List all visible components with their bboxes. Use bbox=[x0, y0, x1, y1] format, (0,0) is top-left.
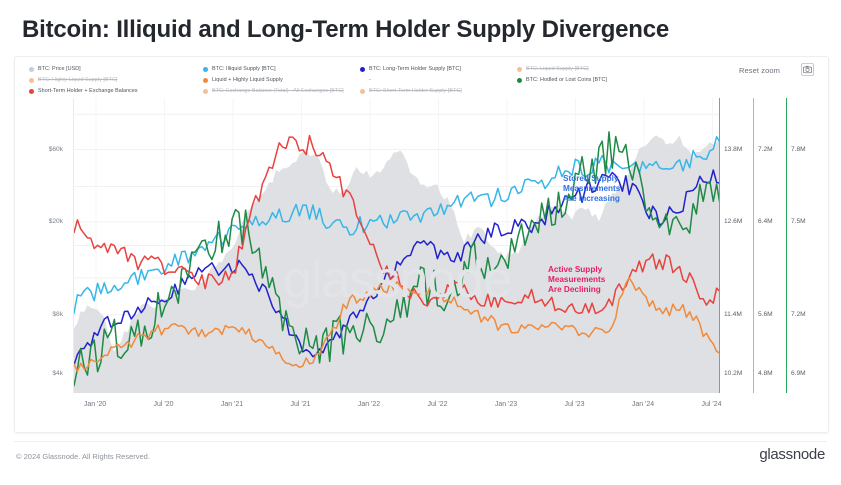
y-tick-left: $60k bbox=[23, 146, 63, 153]
legend-label: BTC: Illiquid Supply [BTC] bbox=[212, 67, 276, 72]
legend-item[interactable]: BTC: Long-Term Holder Supply [BTC] bbox=[360, 67, 461, 72]
legend-color-dot bbox=[29, 89, 34, 94]
legend-color-dot bbox=[203, 78, 208, 83]
x-tick-label: Jul '22 bbox=[413, 401, 463, 408]
legend-item[interactable]: BTC: Illiquid Supply [BTC] bbox=[203, 67, 276, 72]
legend-item[interactable]: BTC: Hodled or Lost Coins [BTC] bbox=[517, 78, 607, 83]
x-tick-label: Jan '21 bbox=[207, 401, 257, 408]
legend-item[interactable]: BTC: Exchange Balance (Total) - All Exch… bbox=[203, 89, 344, 94]
page-title: Bitcoin: Illiquid and Long-Term Holder S… bbox=[22, 16, 669, 44]
camera-icon[interactable] bbox=[801, 63, 814, 76]
copyright-text: © 2024 Glassnode. All Rights Reserved. bbox=[16, 452, 150, 461]
legend-color-dot bbox=[29, 78, 34, 83]
legend-color-dot bbox=[360, 89, 365, 94]
x-tick-label: Jul '24 bbox=[687, 401, 737, 408]
x-tick-label: Jul '20 bbox=[139, 401, 189, 408]
y-tick-left: $8k bbox=[23, 311, 63, 318]
legend-color-dot bbox=[29, 67, 34, 72]
y-tick-right: 7.2M bbox=[791, 311, 806, 318]
y-tick-right: 11.4M bbox=[724, 311, 742, 318]
reset-zoom-button[interactable]: Reset zoom bbox=[739, 66, 780, 75]
legend-label: BTC: Short-Term Holder Supply [BTC] bbox=[369, 89, 462, 94]
legend-color-dot bbox=[360, 67, 365, 72]
legend-label: BTC: Long-Term Holder Supply [BTC] bbox=[369, 67, 461, 72]
y-tick-right: 7.2M bbox=[758, 146, 773, 153]
series-layer bbox=[74, 132, 720, 393]
legend-label: BTC: Hodled or Lost Coins [BTC] bbox=[526, 78, 607, 83]
legend-color-dot bbox=[203, 67, 208, 72]
y-tick-right: 12.6M bbox=[724, 218, 742, 225]
y-tick-right: 6.4M bbox=[758, 218, 773, 225]
legend-label: BTC: Price [USD] bbox=[38, 67, 81, 72]
chart-annotation: Active SupplyMeasurementsAre Declining bbox=[548, 265, 605, 295]
legend-label: Liquid + Highly Liquid Supply bbox=[212, 78, 283, 83]
legend-item[interactable]: - bbox=[360, 78, 371, 83]
plot-area[interactable]: glassnode bbox=[73, 98, 720, 393]
legend-label: BTC: Liquid Supply [BTC] bbox=[526, 67, 589, 72]
y-tick-right: 13.8M bbox=[724, 146, 742, 153]
chart-annotation: Stored SupplyMeasurementsAre Increasing bbox=[563, 174, 620, 204]
legend-color-dot bbox=[517, 78, 522, 83]
legend-item[interactable]: BTC: Highly Liquid Supply [BTC] bbox=[29, 78, 117, 83]
legend-color-dot bbox=[517, 67, 522, 72]
legend-label: Short-Term Holder + Exchange Balances bbox=[38, 89, 138, 94]
x-tick-label: Jul '21 bbox=[276, 401, 326, 408]
legend-item[interactable]: BTC: Liquid Supply [BTC] bbox=[517, 67, 589, 72]
x-tick-label: Jul '23 bbox=[550, 401, 600, 408]
plot-svg bbox=[74, 98, 720, 393]
legend-color-dot bbox=[360, 78, 365, 83]
legend-color-dot bbox=[203, 89, 208, 94]
y-tick-right: 6.9M bbox=[791, 370, 806, 377]
legend-label: - bbox=[369, 78, 371, 83]
x-tick-label: Jan '23 bbox=[481, 401, 531, 408]
x-tick-label: Jan '24 bbox=[618, 401, 668, 408]
right-axis-rule bbox=[719, 98, 720, 393]
chart-page: Bitcoin: Illiquid and Long-Term Holder S… bbox=[0, 0, 841, 485]
chart-legend: BTC: Price [USD]BTC: Highly Liquid Suppl… bbox=[23, 63, 743, 101]
x-tick-label: Jan '22 bbox=[344, 401, 394, 408]
y-tick-right: 10.2M bbox=[724, 370, 742, 377]
legend-item[interactable]: BTC: Price [USD] bbox=[29, 67, 81, 72]
footer-divider bbox=[14, 441, 827, 442]
x-tick-label: Jan '20 bbox=[70, 401, 120, 408]
y-tick-left: $20k bbox=[23, 218, 63, 225]
legend-label: BTC: Exchange Balance (Total) - All Exch… bbox=[212, 89, 344, 94]
chart-card: BTC: Price [USD]BTC: Highly Liquid Suppl… bbox=[14, 56, 829, 433]
legend-label: BTC: Highly Liquid Supply [BTC] bbox=[38, 78, 117, 83]
legend-item[interactable]: Short-Term Holder + Exchange Balances bbox=[29, 89, 138, 94]
legend-item[interactable]: Liquid + Highly Liquid Supply bbox=[203, 78, 283, 83]
right-axis-rule bbox=[753, 98, 754, 393]
y-tick-right: 7.8M bbox=[791, 146, 806, 153]
y-tick-right: 5.6M bbox=[758, 311, 773, 318]
y-tick-left: $4k bbox=[23, 370, 63, 377]
brand-logo: glassnode bbox=[759, 446, 825, 463]
y-tick-right: 7.5M bbox=[791, 218, 806, 225]
y-tick-right: 4.8M bbox=[758, 370, 773, 377]
legend-item[interactable]: BTC: Short-Term Holder Supply [BTC] bbox=[360, 89, 462, 94]
right-axis-rule bbox=[786, 98, 787, 393]
